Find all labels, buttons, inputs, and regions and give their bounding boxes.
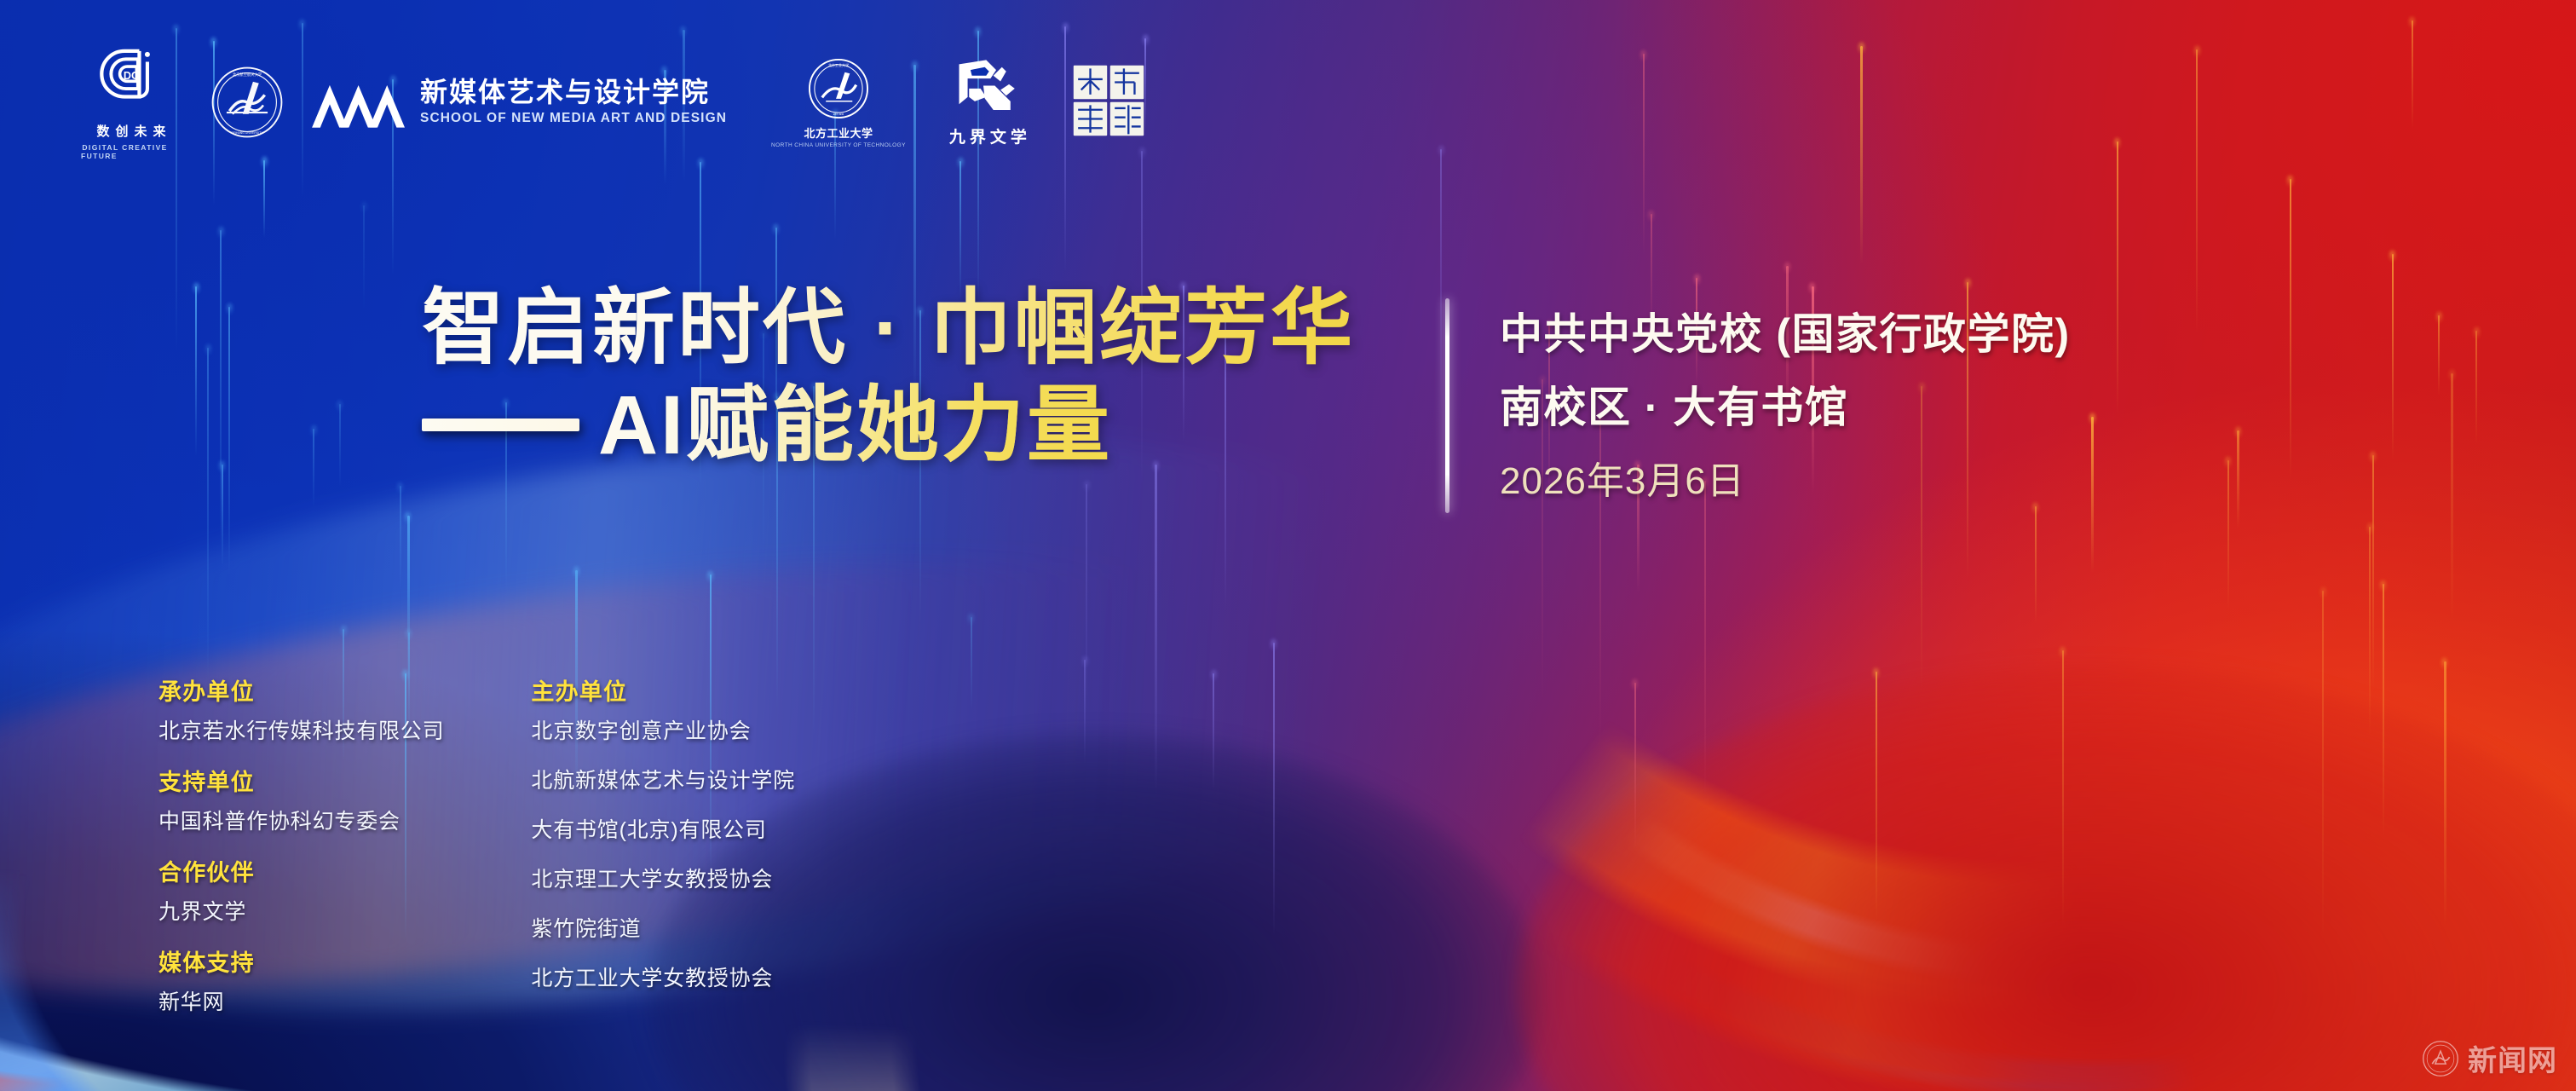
venue-info: 中共中央党校 (国家行政学院) 南校区 · 大有书馆 2026年3月6日 xyxy=(1500,300,2071,505)
light-streak xyxy=(2475,331,2477,445)
source-watermark: 新闻网 xyxy=(2422,1037,2557,1079)
venue-organization: 中共中央党校 (国家行政学院) xyxy=(1500,300,2071,361)
organization-heading: 承办单位 xyxy=(158,673,444,707)
snmad-mountain-icon xyxy=(309,74,405,130)
light-streak xyxy=(2237,430,2239,529)
light-streak xyxy=(2369,527,2371,736)
dc-logo-name-en: DIGITAL CREATIVE FUTURE xyxy=(81,143,182,160)
dc-monogram-icon: DC xyxy=(97,44,165,114)
light-streak xyxy=(1876,672,1877,921)
light-streak xyxy=(2117,141,2118,414)
light-streak xyxy=(263,160,265,239)
light-streak xyxy=(2392,254,2394,460)
light-streak xyxy=(2035,506,2037,624)
venue-date: 2026年3月6日 xyxy=(1500,450,2071,505)
logo-dayou-library xyxy=(1072,62,1145,143)
organization-item: 新华网 xyxy=(158,985,444,1016)
organization-item: 中国科普作协科幻专委会 xyxy=(158,805,444,835)
dayou-block-icon xyxy=(1072,62,1145,139)
organization-credits: 承办单位北京若水行传媒科技有限公司支持单位中国科普作协科幻专委会合作伙伴九界文学… xyxy=(158,673,795,1035)
partner-logo-bar: DC 数创未来 DIGITAL CREATIVE FUTURE 北京航空航天大学… xyxy=(81,44,1145,160)
light-streak xyxy=(1704,481,1706,798)
light-streak xyxy=(2227,460,2229,609)
light-streak xyxy=(2196,49,2198,334)
svg-text:北京航空航天大学: 北京航空航天大学 xyxy=(233,72,262,78)
organization-item: 北航新媒体艺术与设计学院 xyxy=(531,764,795,794)
jiujie-cube-icon xyxy=(953,57,1023,118)
organization-heading: 支持单位 xyxy=(158,764,444,797)
ncut-seal-icon: 北方工业大学 EST. 1946 xyxy=(807,57,870,120)
light-streak xyxy=(1440,149,1442,420)
light-streak xyxy=(2383,584,2384,837)
event-banner: DC 数创未来 DIGITAL CREATIVE FUTURE 北京航空航天大学… xyxy=(0,0,2576,1091)
light-streak xyxy=(2451,373,2453,626)
svg-text:EST. 1946: EST. 1946 xyxy=(833,113,844,116)
title-line-1: 智启新时代 · 巾帼绽芳华 xyxy=(422,281,1355,375)
light-streak xyxy=(2438,315,2440,396)
organization-heading: 媒体支持 xyxy=(158,944,444,978)
organization-heading: 合作伙伴 xyxy=(158,854,444,887)
snmad-name-en: SCHOOL OF NEW MEDIA ART AND DESIGN xyxy=(420,111,727,126)
title-dash-icon xyxy=(422,419,579,431)
organization-column-right: 主办单位北京数字创意产业协会北航新媒体艺术与设计学院大有书馆(北京)有限公司北京… xyxy=(531,673,795,1035)
dc-logo-name-cn: 数创未来 xyxy=(90,122,171,140)
light-streak xyxy=(2372,455,2374,691)
light-streak xyxy=(960,161,961,300)
organization-item: 北京数字创意产业协会 xyxy=(531,714,795,745)
ncut-name-cn: 北方工业大学 xyxy=(804,124,873,141)
title-line-2: AI赋能她力量 xyxy=(422,378,1355,472)
logo-north-china-university-of-technology: 北方工业大学 EST. 1946 北方工业大学 NORTH CHINA UNIV… xyxy=(771,57,906,148)
swirl-red-core xyxy=(1517,665,2576,1091)
light-streak xyxy=(313,429,314,508)
svg-text:北方工业大学: 北方工业大学 xyxy=(828,62,849,67)
news-site-seal-icon xyxy=(2422,1040,2459,1077)
organization-heading: 主办单位 xyxy=(531,673,795,707)
logo-jiujie-literature: 九界文学 xyxy=(945,57,1031,147)
light-streak xyxy=(220,230,222,550)
light-streak xyxy=(195,286,197,457)
light-streak xyxy=(1860,46,1863,265)
svg-text:DC: DC xyxy=(124,70,139,82)
light-streak xyxy=(363,205,365,311)
event-title: 智启新时代 · 巾帼绽芳华 AI赋能她力量 xyxy=(422,281,1355,471)
watermark-text: 新闻网 xyxy=(2468,1037,2557,1079)
light-streak xyxy=(2444,661,2446,927)
organization-item: 北京理工大学女教授协会 xyxy=(531,863,795,893)
title-line-2-text: AI赋能她力量 xyxy=(598,378,1112,472)
svg-text:BEIHANG UNIVERSITY: BEIHANG UNIVERSITY xyxy=(231,131,263,135)
beihang-seal-icon: 北京航空航天大学 BEIHANG UNIVERSITY xyxy=(210,66,284,139)
title-venue-divider xyxy=(1445,298,1449,513)
light-streak xyxy=(2062,650,2064,926)
logo-school-of-new-media-art-and-design: 新媒体艺术与设计学院 SCHOOL OF NEW MEDIA ART AND D… xyxy=(309,74,727,130)
light-streak xyxy=(1643,54,1645,256)
light-streak xyxy=(1634,683,1636,849)
ncut-name-en: NORTH CHINA UNIVERSITY OF TECHNOLOGY xyxy=(771,142,906,148)
snmad-name-cn: 新媒体艺术与设计学院 xyxy=(420,78,727,107)
venue-location: 南校区 · 大有书馆 xyxy=(1500,373,2071,435)
organization-item: 大有书馆(北京)有限公司 xyxy=(531,813,795,844)
light-streak xyxy=(2091,417,2094,573)
light-streak xyxy=(2322,591,2324,940)
light-streak xyxy=(228,307,230,575)
light-streak xyxy=(2412,20,2413,130)
jiujie-name-cn: 九界文学 xyxy=(945,124,1031,147)
light-streak xyxy=(339,404,341,488)
organization-item: 紫竹院街道 xyxy=(531,912,795,943)
organization-item: 北方工业大学女教授协会 xyxy=(531,961,795,992)
organization-item: 九界文学 xyxy=(158,895,444,926)
organization-item: 北京若水行传媒科技有限公司 xyxy=(158,714,444,745)
organization-column-left: 承办单位北京若水行传媒科技有限公司支持单位中国科普作协科幻专委会合作伙伴九界文学… xyxy=(158,673,444,1035)
light-streak xyxy=(2290,179,2291,482)
logo-digital-creative-future: DC 数创未来 DIGITAL CREATIVE FUTURE xyxy=(81,44,182,160)
